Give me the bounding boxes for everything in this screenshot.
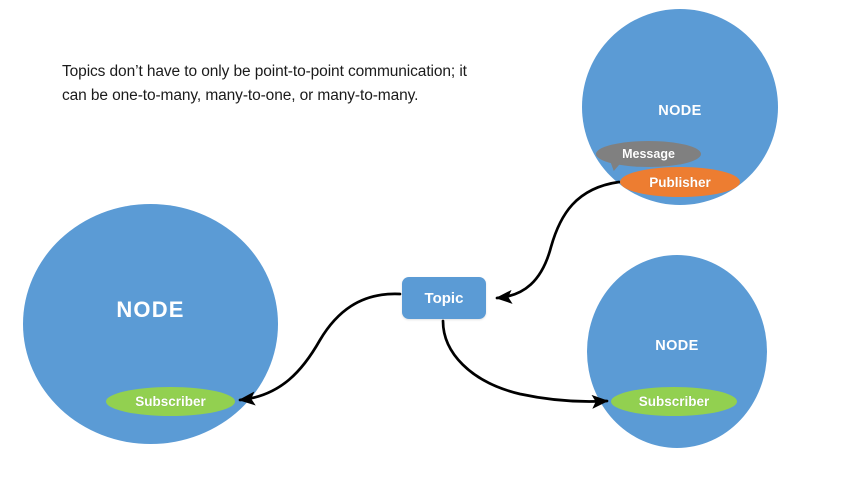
node-label-bottom-right: NODE xyxy=(587,338,767,354)
publisher-pill[interactable]: Publisher xyxy=(620,167,740,197)
diagram-canvas: Topics don’t have to only be point-to-po… xyxy=(0,0,854,480)
node-label-left: NODE xyxy=(23,297,278,323)
subscriber-pill-left[interactable]: Subscriber xyxy=(106,387,235,416)
node-label-top-right: NODE xyxy=(582,103,778,119)
arrow-publisher-to-topic xyxy=(497,182,619,298)
arrow-topic-to-subscriber-bottom-right xyxy=(443,321,607,401)
subscriber-pill-bottom-right[interactable]: Subscriber xyxy=(611,387,737,416)
caption-text: Topics don’t have to only be point-to-po… xyxy=(62,60,482,107)
topic-box[interactable]: Topic xyxy=(402,277,486,319)
node-circle-bottom-right: NODE xyxy=(587,255,767,448)
message-pill[interactable]: Message xyxy=(596,141,701,167)
